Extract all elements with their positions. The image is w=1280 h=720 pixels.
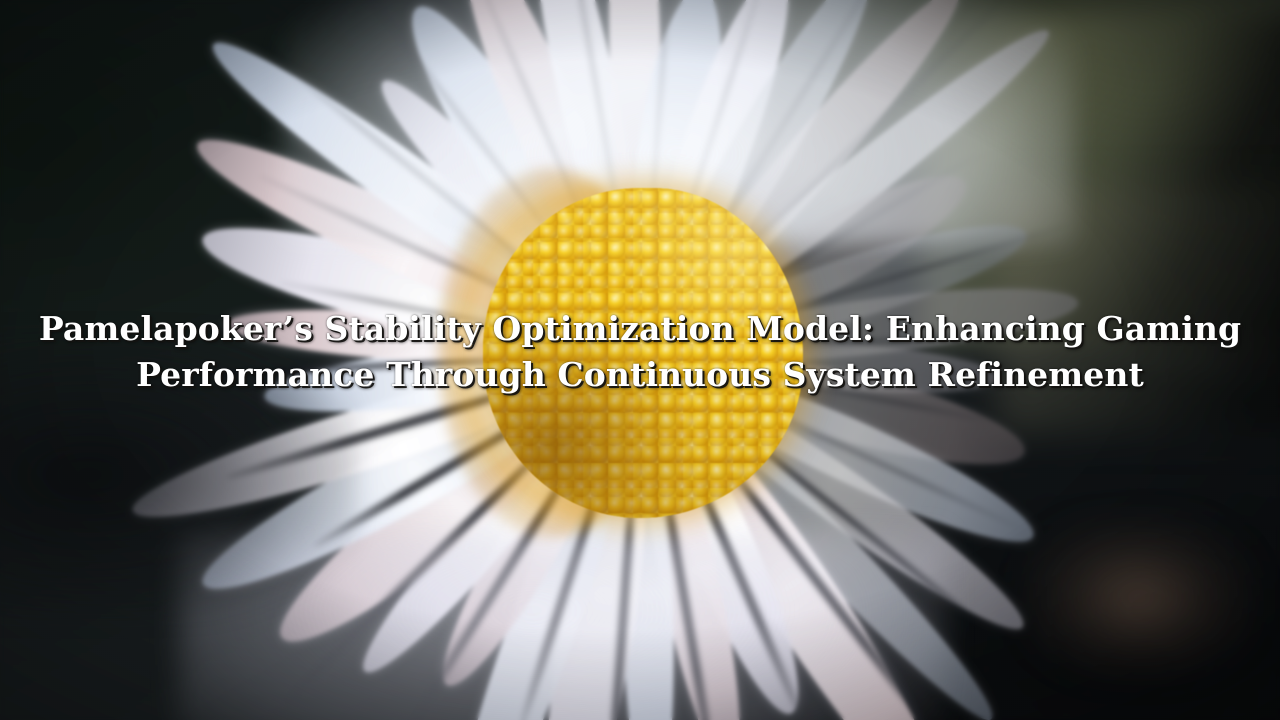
page-title: Pamelapoker’s Stability Optimization Mod…: [14, 306, 1266, 397]
hero-banner: Pamelapoker’s Stability Optimization Mod…: [0, 0, 1280, 720]
bokeh-warm-lower-right: [1024, 518, 1254, 676]
hero-title-container: Pamelapoker’s Stability Optimization Mod…: [0, 306, 1280, 397]
